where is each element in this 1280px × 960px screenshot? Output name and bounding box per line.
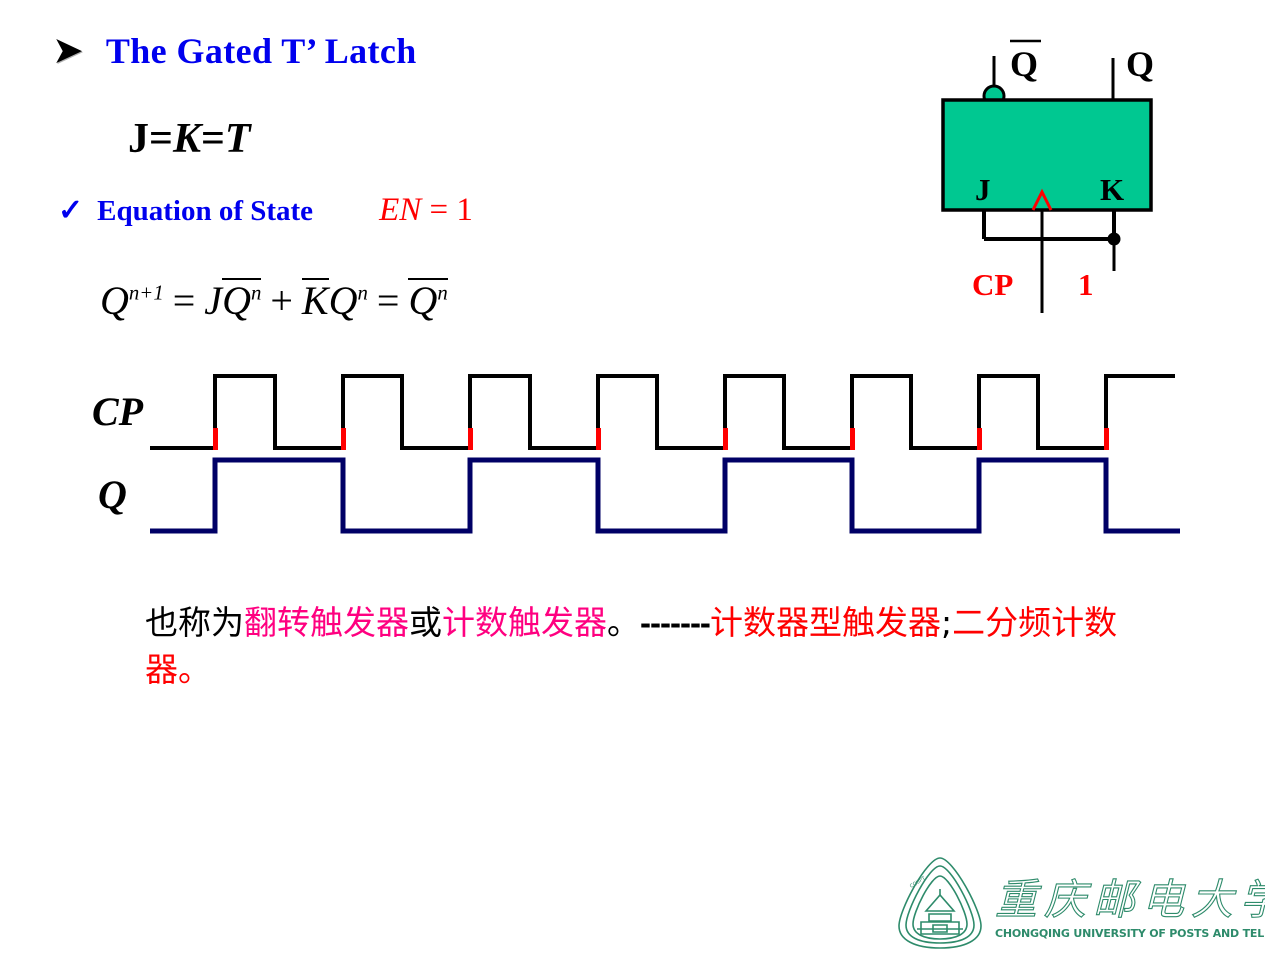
formula-qbar-result: Qn — [408, 278, 447, 321]
enable-condition-value: 1 — [456, 192, 473, 228]
formula-plus: + — [261, 278, 302, 323]
enable-condition-en: EN — [379, 192, 421, 228]
arrow-bullet-icon: ➤ — [52, 32, 84, 70]
state-equation-formula: Qn+1=JQn+KQn=Qn — [100, 278, 448, 321]
university-name-chinese: 重庆邮电大学 — [995, 875, 1265, 924]
equation-of-state-label: Equation of State — [97, 195, 313, 228]
enable-condition-eq: = — [429, 192, 448, 228]
rising-edge-tick-icon — [596, 428, 601, 450]
jkt-t: T — [225, 116, 251, 162]
note-seg-5: 。 — [607, 603, 640, 642]
formula-kbar: K — [302, 278, 329, 321]
note-seg-4: 计数触发器 — [442, 603, 607, 642]
rising-edge-tick-icon — [213, 428, 218, 450]
q-output-label: Q — [1126, 44, 1154, 84]
formula-qbar-1-exponent: n — [251, 282, 261, 305]
jkt-j: J — [128, 116, 149, 162]
formula-lhs-q: Q — [100, 278, 129, 323]
jkt-k: K — [173, 116, 201, 162]
rising-edge-tick-icon — [977, 428, 982, 450]
equation-of-state-row: ✓ Equation of State EN = 1 — [58, 192, 473, 229]
clock-signal-label: CP — [972, 267, 1013, 302]
rising-edge-tick-icon — [850, 428, 855, 450]
q-waveform-label: Q — [98, 472, 127, 517]
k-input-label: K — [1100, 172, 1124, 207]
rising-edge-tick-icon — [1104, 428, 1109, 450]
note-seg-1: 也称为 — [145, 603, 244, 642]
note-seg-dashes: ------- — [640, 604, 710, 641]
qbar-output-label: Q — [1010, 44, 1038, 84]
slide-canvas: ➤ The Gated T’ Latch J=K=T ✓ Equation of… — [0, 0, 1280, 960]
formula-qbar-result-base: Q — [408, 278, 437, 323]
checkmark-bullet-icon: ✓ — [58, 196, 83, 226]
jkt-eq1: = — [149, 116, 173, 162]
note-seg-2: 翻转触发器 — [244, 603, 409, 642]
formula-qbar-1: Qn — [222, 278, 261, 321]
jk-equals-t-expression: J=K=T — [128, 115, 251, 163]
explanatory-note: 也称为翻转触发器或计数触发器。-------计数器型触发器;二分频计数器。 — [145, 600, 1145, 694]
note-seg-7: 计数器型触发器 — [710, 603, 941, 642]
formula-qbar-1-base: Q — [222, 278, 251, 323]
note-seg-3: 或 — [409, 603, 442, 642]
page-title: The Gated T’ Latch — [106, 30, 417, 72]
formula-equals-1: = — [164, 278, 205, 323]
cp-waveform-label: CP — [92, 389, 144, 434]
j-input-label: J — [975, 172, 991, 207]
university-logo: CQUPT 重庆邮电大学 CHONGQING UNIVERSITY OF POS… — [895, 852, 1265, 957]
jk-flipflop-circuit-diagram: Q Q J K CP 1 — [930, 28, 1180, 308]
formula-q-2: Q — [329, 278, 358, 323]
formula-qbar-result-exponent: n — [437, 282, 447, 305]
formula-lhs-exponent: n+1 — [129, 282, 164, 305]
rising-edge-tick-icon — [723, 428, 728, 450]
formula-equals-2: = — [368, 278, 409, 323]
slide-heading: ➤ The Gated T’ Latch — [52, 30, 417, 72]
formula-kbar-base: K — [302, 278, 329, 323]
cp-waveform-trace — [150, 376, 1175, 448]
timing-diagram: CP Q — [90, 360, 1200, 560]
formula-q-2-exponent: n — [358, 282, 368, 305]
q-waveform-trace — [150, 460, 1180, 531]
logic-one-label: 1 — [1078, 267, 1094, 302]
crest-ring-text: CQUPT — [909, 875, 928, 890]
university-name-english: CHONGQING UNIVERSITY OF POSTS AND TELECO… — [995, 927, 1265, 940]
rising-edge-tick-icon — [341, 428, 346, 450]
jkt-eq2: = — [201, 116, 225, 162]
university-crest-icon — [899, 858, 981, 948]
enable-condition: EN = 1 — [379, 192, 473, 229]
note-seg-8: ; — [941, 603, 952, 642]
formula-j: J — [204, 278, 222, 323]
rising-edge-tick-icon — [468, 428, 473, 450]
